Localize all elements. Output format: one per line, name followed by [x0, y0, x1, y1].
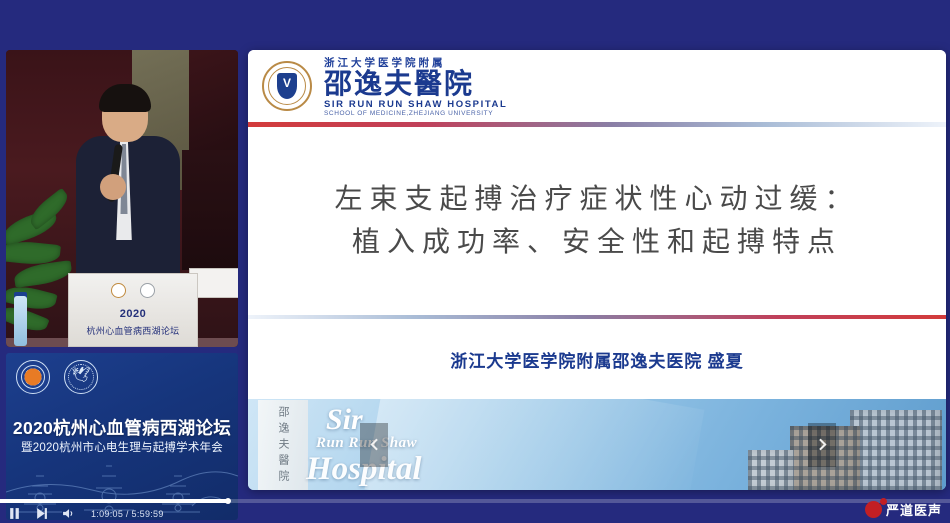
volume-icon	[62, 507, 75, 520]
red-dot-logo-icon	[865, 501, 882, 518]
photo-word-sir: Sir	[326, 403, 363, 437]
progress-bar-handle[interactable]	[225, 498, 231, 504]
podium-year: 2020	[69, 308, 197, 320]
hospital-name-en: SIR RUN RUN SHAW HOSPITAL	[324, 99, 507, 110]
progress-bar-track[interactable]	[0, 499, 950, 503]
wall-panel-right	[182, 150, 238, 270]
slide-title-line-1: 左束支起搏治疗症状性心动过缓：	[334, 178, 859, 221]
progress-bar-fill	[0, 499, 228, 503]
podium-conference-name: 杭州心血管病西湖论坛	[69, 324, 197, 337]
podium-emblems	[69, 283, 197, 298]
speaker-video[interactable]: 2020 杭州心血管病西湖论坛	[6, 50, 238, 347]
slide-header: 浙江大学医学院附属 邵逸夫醫院 SIR RUN RUN SHAW HOSPITA…	[248, 50, 946, 122]
university-seal-icon	[262, 61, 312, 111]
building-right	[850, 410, 942, 490]
next-button[interactable]	[35, 507, 48, 520]
hospital-affiliation: 浙江大学医学院附属	[324, 55, 507, 70]
banner-title: 2020杭州心血管病西湖论坛	[6, 415, 238, 440]
left-column: 2020 杭州心血管病西湖论坛 🕊 2020杭州心血管病西湖论坛 暨2020杭州…	[6, 50, 238, 520]
carousel-next-button[interactable]	[808, 423, 836, 467]
video-player-bar: 1:09:05 / 5:59:59	[0, 490, 950, 523]
presenter-figure	[70, 88, 188, 288]
podium-board: 2020 杭州心血管病西湖论坛	[68, 273, 198, 347]
slide-title-block: 左束支起搏治疗症状性心动过缓： 植入成功率、安全性和起搏特点	[248, 127, 946, 315]
banner-emblems: 🕊	[16, 360, 98, 394]
podium-emblem-orange-icon	[111, 283, 126, 298]
chevron-right-icon	[816, 438, 829, 451]
player-controls: 1:09:05 / 5:59:59	[8, 507, 164, 520]
app-stage: 2020 杭州心血管病西湖论坛 🕊 2020杭州心血管病西湖论坛 暨2020杭州…	[0, 0, 950, 523]
carousel-prev-button[interactable]	[360, 423, 388, 467]
water-bottle	[14, 296, 27, 346]
presentation-slide[interactable]: 浙江大学医学院附属 邵逸夫醫院 SIR RUN RUN SHAW HOSPITA…	[248, 50, 946, 490]
chevron-left-icon	[368, 438, 381, 451]
hospital-wordmark: 浙江大学医学院附属 邵逸夫醫院 SIR RUN RUN SHAW HOSPITA…	[324, 55, 507, 117]
watermark: 严道医声	[865, 500, 942, 519]
hospital-name-cn: 邵逸夫醫院	[324, 70, 507, 99]
wall-panel-secondary	[189, 50, 238, 162]
slide-presenter-block: 浙江大学医学院附属邵逸夫医院 盛夏	[248, 319, 946, 399]
pause-icon	[8, 507, 21, 520]
podium-emblem-grey-icon	[140, 283, 155, 298]
pause-button[interactable]	[8, 507, 21, 520]
volume-button[interactable]	[62, 507, 75, 520]
slide-title-line-2: 植入成功率、安全性和起搏特点	[352, 221, 842, 264]
hospital-school-en: SCHOOL OF MEDICINE,ZHEJIANG UNIVERSITY	[324, 110, 507, 117]
hospital-signboard: 邵逸夫醫院	[258, 400, 308, 490]
timecode-label: 1:09:05 / 5:59:59	[91, 509, 164, 519]
hospital-photo: 邵逸夫醫院 Sir Run Run Shaw Hospital	[248, 399, 946, 490]
watermark-text: 严道医声	[886, 500, 942, 519]
building-far	[748, 450, 794, 490]
presenter-name: 浙江大学医学院附属邵逸夫医院 盛夏	[450, 347, 743, 372]
signboard-text: 邵逸夫醫院	[275, 406, 291, 486]
dove-wreath-emblem-icon: 🕊	[64, 360, 98, 394]
next-track-icon	[35, 507, 48, 520]
globe-emblem-icon	[16, 360, 50, 394]
